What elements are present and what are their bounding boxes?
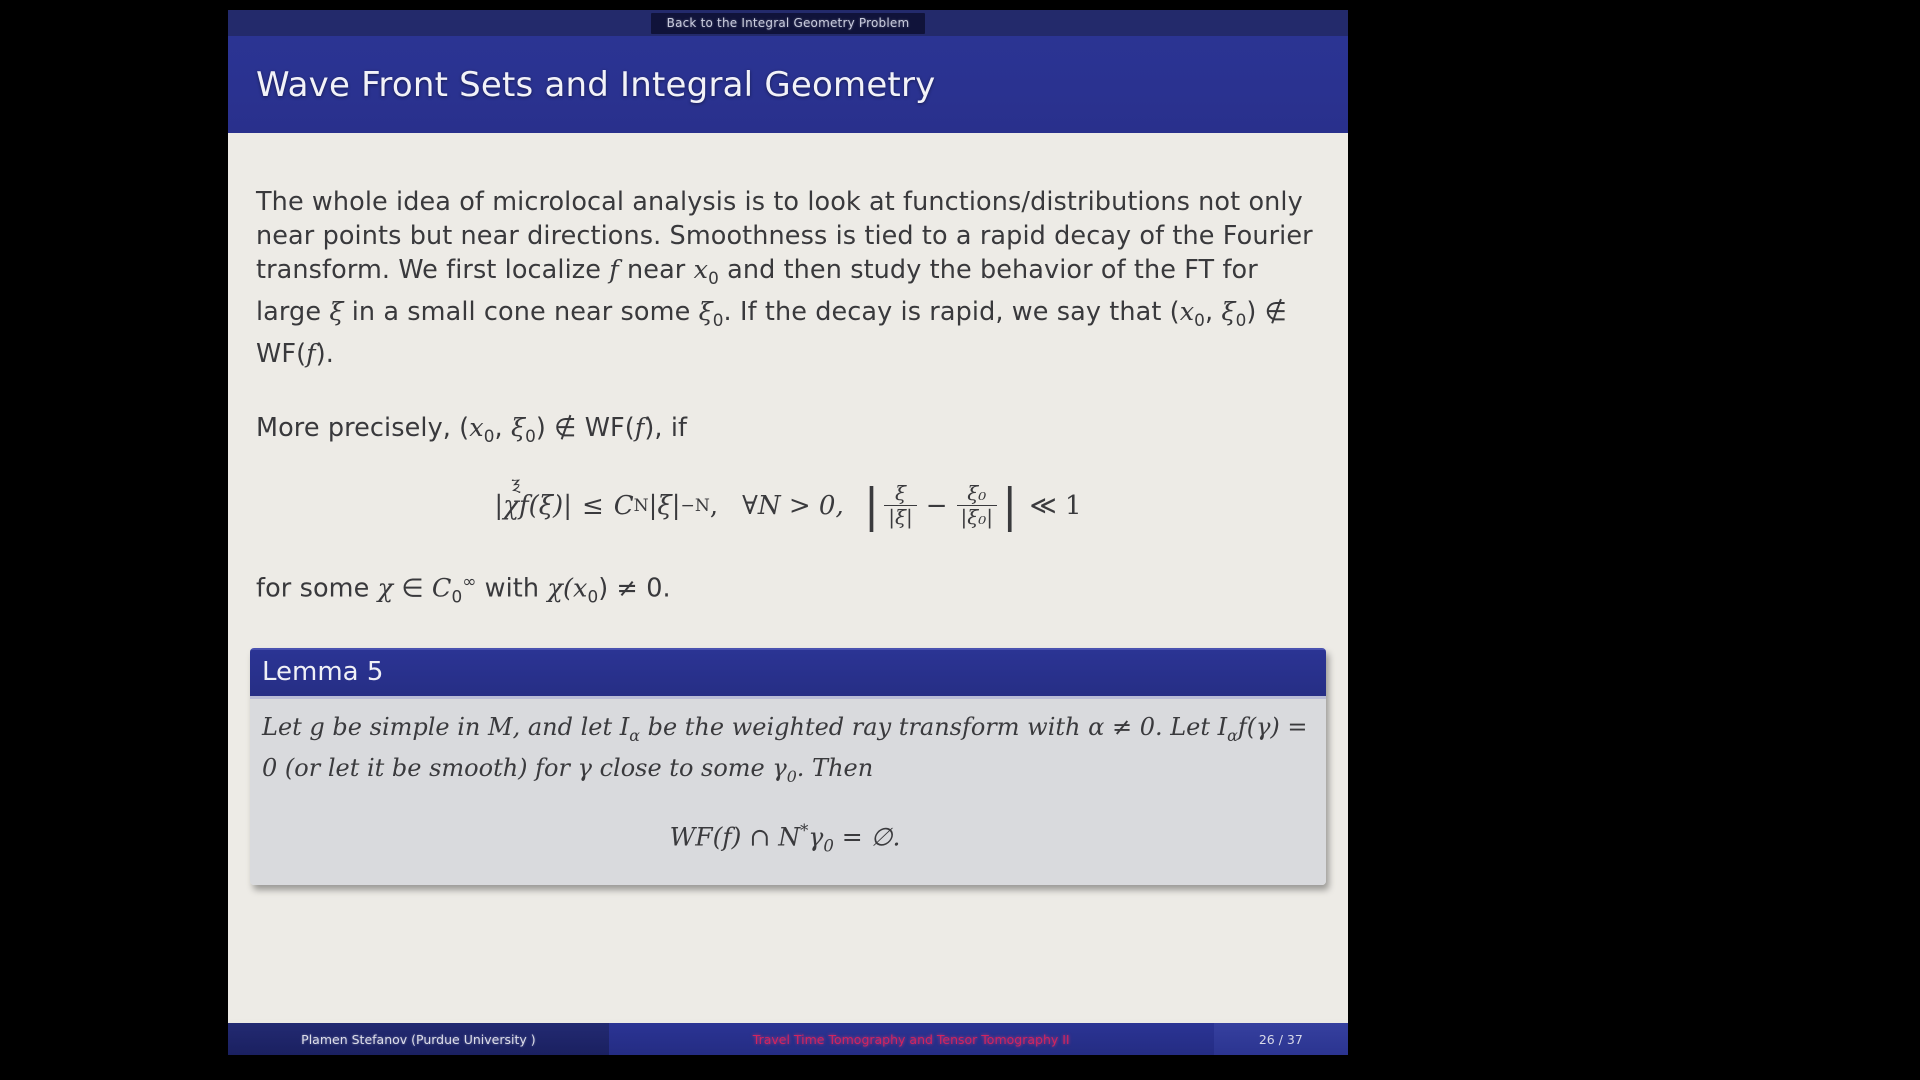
equation-comma: , <box>710 491 718 521</box>
section-navbar[interactable]: Back to the Integral Geometry Problem <box>228 10 1348 36</box>
fraction-xi-over-modxi: ξ |ξ| <box>884 483 917 528</box>
symbol-exponent: −N <box>681 496 710 516</box>
symbol-alpha: α <box>1088 713 1104 741</box>
projected-screen: Back to the Integral Geometry Problem Wa… <box>0 0 1920 1080</box>
equation-segment: WF( <box>670 823 723 852</box>
chi-hat-f: Ⲝχf <box>503 491 528 521</box>
symbol-xi-subscript: 0 <box>525 426 536 446</box>
text-segment: . If the decay is rapid, we say that ( <box>724 297 1180 327</box>
hat-accent-icon: Ⲝ <box>503 482 528 490</box>
lemma-statement: Let g be simple in M, and let Iα be the … <box>250 696 1326 885</box>
symbol-xi0: ξ <box>699 297 713 327</box>
text-segment: , <box>1205 297 1221 327</box>
symbol-C: C <box>614 491 634 521</box>
symbol-argument: (x <box>563 574 588 604</box>
symbol-x: x <box>469 413 483 443</box>
text-segment: close to some <box>592 754 772 782</box>
screen-right-margin <box>1348 0 1920 1080</box>
equation-segment: ) ∩ N <box>732 823 800 852</box>
equation-cone-condition: | ξ |ξ| − ξ₀ |ξ₀| | ≪ 1 <box>862 483 1082 528</box>
slide-body: The whole idea of microlocal analysis is… <box>228 133 1348 1019</box>
screen-left-margin <box>0 0 228 1080</box>
text-segment: ∈ <box>393 574 432 604</box>
text-segment: be simple in <box>325 713 488 741</box>
symbol-f: f <box>609 255 619 285</box>
symbol-gamma0: γ <box>772 754 786 782</box>
lemma-heading: Lemma 5 <box>250 648 1326 696</box>
lemma-display-equation: WF(f) ∩ N*γ0 = ∅. <box>262 814 1308 862</box>
symbol-gamma-argument: (γ) <box>1247 713 1280 741</box>
symbol-f: f <box>1238 713 1247 741</box>
symbol-I: I <box>1218 713 1227 741</box>
text-segment: . Then <box>797 754 873 782</box>
paragraph-microlocal-intro: The whole idea of microlocal analysis is… <box>228 185 1348 371</box>
text-segment: More precisely, ( <box>256 413 469 443</box>
symbol-I-subscript: α <box>1227 726 1238 745</box>
paragraph-for-some-chi: for some χ ∈ C0∞ with χ(x0) ≠ 0. <box>228 564 1348 614</box>
symbol-pair-xi: ξ <box>1221 297 1235 327</box>
symbol-x0: x <box>694 255 708 285</box>
symbol-gamma: γ <box>578 754 592 782</box>
symbol-gamma0-subscript: 0 <box>787 766 797 785</box>
text-segment: , and let <box>513 713 620 741</box>
symbol-pair-x-subscript: 0 <box>1194 310 1205 330</box>
symbol-f: f <box>722 823 731 852</box>
paragraph-more-precisely: More precisely, (x0, ξ0) ∉ WF(f), if <box>228 411 1348 453</box>
symbol-pair-x: x <box>1180 297 1194 327</box>
symbol-C-superscript: ∞ <box>462 571 476 591</box>
slide-title-bar: Wave Front Sets and Integral Geometry <box>228 36 1348 133</box>
equation-leq-sign: ≤ <box>582 491 604 521</box>
text-segment: ) ∉ WF( <box>536 413 635 443</box>
text-segment: , <box>495 413 511 443</box>
lemma-block: Lemma 5 Let g be simple in M, and let Iα… <box>250 648 1326 885</box>
symbol-I-subscript: α <box>629 726 640 745</box>
symbol-gamma-subscript: 0 <box>823 837 834 856</box>
symbol-C: C <box>432 574 452 604</box>
page-title: Wave Front Sets and Integral Geometry <box>228 65 935 105</box>
text-segment: ≠ 0. Let <box>1104 713 1217 741</box>
symbol-xi: ξ <box>329 297 343 327</box>
display-equation-wavefront: |Ⲝχf(ξ)| ≤ CN|ξ|−N, ∀N > 0, | ξ |ξ| − ξ₀ <box>228 483 1348 528</box>
symbol-xi: ξ <box>511 413 525 443</box>
equation-segment: = ∅. <box>834 823 901 852</box>
symbol-g: g <box>309 713 324 741</box>
symbol-chi: χ <box>378 574 394 604</box>
fraction-xi0-over-modxi0: ξ₀ |ξ₀| <box>957 483 998 528</box>
text-segment: in a small cone near some <box>343 297 698 327</box>
fraction-numerator: ξ₀ <box>963 483 990 505</box>
footer-talk-title: Travel Time Tomography and Tensor Tomogr… <box>609 1023 1214 1055</box>
symbol-gamma: γ <box>808 823 823 852</box>
text-segment: Let <box>262 713 309 741</box>
screen-bottom-margin <box>0 1055 1920 1080</box>
slide-footer: Plamen Stefanov (Purdue University ) Tra… <box>228 1023 1348 1055</box>
symbol-x-subscript: 0 <box>484 426 495 446</box>
fraction-denominator: |ξ₀| <box>957 505 998 528</box>
equation-rhs: CN|ξ|−N, <box>614 491 718 521</box>
footer-author: Plamen Stefanov (Purdue University ) <box>228 1023 609 1055</box>
symbol-C-subscript: 0 <box>452 587 463 607</box>
fraction-denominator: |ξ| <box>884 505 917 528</box>
footer-page-number: 26 / 37 <box>1214 1023 1348 1055</box>
abs-bar-left: | <box>864 488 880 524</box>
text-segment: for some <box>256 574 378 604</box>
text-segment: ). <box>316 339 334 369</box>
text-segment: be the weighted ray transform with <box>640 713 1088 741</box>
symbol-pair-xi-subscript: 0 <box>1236 310 1247 330</box>
symbol-M: M <box>488 713 513 741</box>
text-segment: ), if <box>644 413 687 443</box>
symbol-x0-subscript: 0 <box>708 268 719 288</box>
equation-lhs: |Ⲝχf(ξ)| <box>494 491 572 521</box>
symbol-f: f <box>635 413 645 443</box>
fraction-numerator: ξ <box>891 483 910 505</box>
equation-much-less-than: ≪ 1 <box>1030 491 1082 521</box>
symbol-argument-subscript: 0 <box>587 587 598 607</box>
presentation-slide: Back to the Integral Geometry Problem Wa… <box>228 10 1348 1055</box>
symbol-wf-f: f <box>306 339 316 369</box>
abs-bar-right: | <box>1002 488 1018 524</box>
text-segment: with <box>476 574 547 604</box>
text-segment: near <box>619 255 694 285</box>
symbol-I: I <box>620 713 629 741</box>
symbol-mod-xi: |ξ| <box>649 491 681 521</box>
equation-argument: (ξ) <box>529 491 564 521</box>
section-label[interactable]: Back to the Integral Geometry Problem <box>651 13 926 34</box>
equation-forall-clause: ∀N > 0, <box>742 491 844 521</box>
symbol-xi0-subscript: 0 <box>713 310 724 330</box>
text-segment: ) ≠ 0. <box>598 574 670 604</box>
symbol-C-subscript: N <box>634 496 649 516</box>
symbol-chi: χ <box>547 574 563 604</box>
equation-minus-sign: − <box>926 491 948 521</box>
